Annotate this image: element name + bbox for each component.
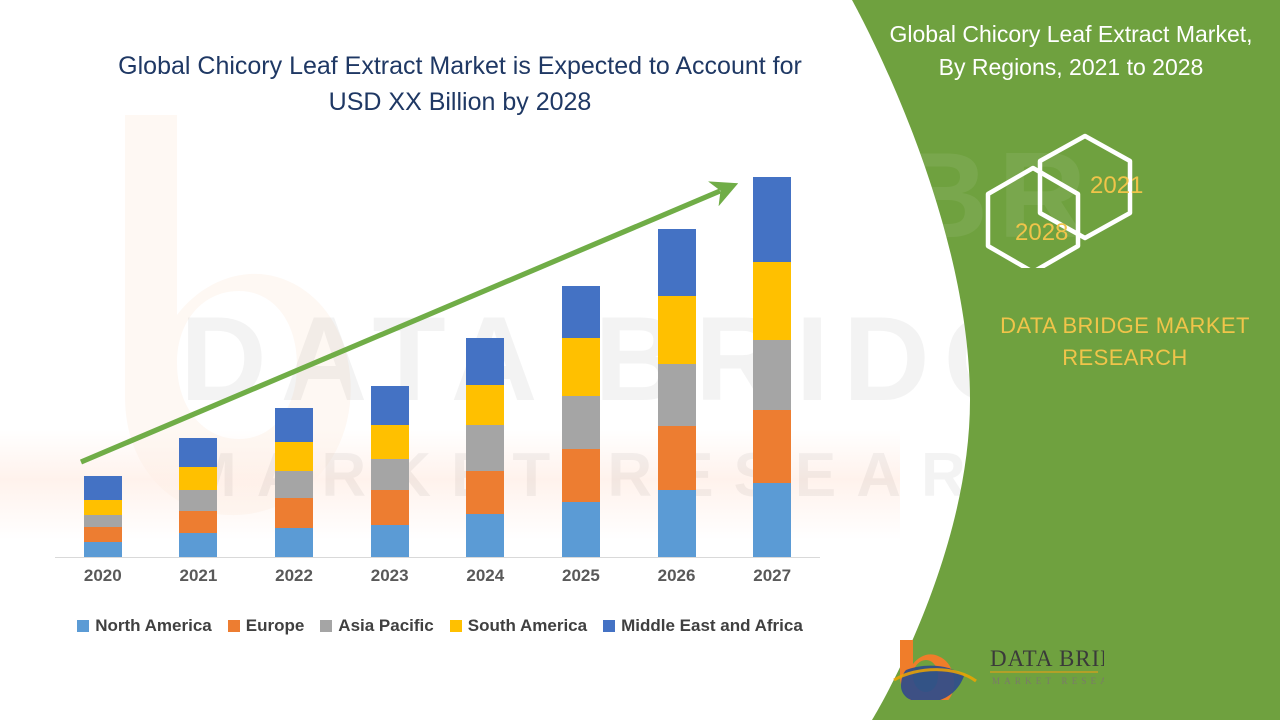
x-axis-line — [55, 557, 820, 558]
side-panel-title-line2: By Regions, 2021 to 2028 — [862, 51, 1280, 84]
logo-wordmark: DATA BRIDGE — [990, 646, 1104, 671]
chart-legend: North AmericaEuropeAsia PacificSouth Ame… — [55, 616, 825, 636]
bar-segment[interactable] — [179, 533, 217, 557]
x-axis-label: 2024 — [438, 566, 534, 596]
legend-item[interactable]: Asia Pacific — [320, 616, 433, 636]
bar-segment[interactable] — [658, 490, 696, 557]
bar-segment[interactable] — [753, 262, 791, 340]
hexagon-2021-label: 2021 — [1090, 172, 1143, 200]
side-panel-brand: DATA BRIDGE MARKET RESEARCH — [960, 310, 1280, 374]
hexagon-2028-label: 2028 — [1015, 219, 1068, 247]
side-panel-brand-line2: RESEARCH — [960, 342, 1280, 374]
bar-segment[interactable] — [466, 514, 504, 557]
legend-label: South America — [468, 616, 587, 636]
side-panel-title: Global Chicory Leaf Extract Market, By R… — [862, 18, 1280, 84]
bar-segment[interactable] — [275, 442, 313, 471]
bar-column-2025 — [533, 150, 629, 557]
bar-segment[interactable] — [84, 515, 122, 527]
legend-label: Middle East and Africa — [621, 616, 803, 636]
chart-title: Global Chicory Leaf Extract Market is Ex… — [95, 48, 825, 120]
bar-segment[interactable] — [753, 340, 791, 410]
legend-item[interactable]: Middle East and Africa — [603, 616, 803, 636]
side-panel-brand-line1: DATA BRIDGE MARKET — [960, 310, 1280, 342]
stacked-bar[interactable] — [179, 438, 217, 557]
stacked-bar[interactable] — [658, 229, 696, 557]
stacked-bar[interactable] — [84, 476, 122, 557]
legend-swatch-icon — [77, 620, 89, 632]
bar-segment[interactable] — [658, 296, 696, 364]
legend-swatch-icon — [228, 620, 240, 632]
chart-title-line1: Global Chicory Leaf Extract Market is Ex… — [95, 48, 825, 84]
stacked-bar[interactable] — [562, 286, 600, 557]
bar-segment[interactable] — [275, 498, 313, 528]
bar-segment[interactable] — [466, 471, 504, 513]
bar-segment[interactable] — [179, 511, 217, 534]
bar-segment[interactable] — [179, 467, 217, 490]
bar-segment[interactable] — [84, 527, 122, 541]
legend-item[interactable]: North America — [77, 616, 212, 636]
data-bridge-logo: DATA BRIDGE MARKET RESEARCH — [884, 636, 1104, 700]
stacked-bar[interactable] — [466, 338, 504, 557]
bar-segment[interactable] — [371, 490, 409, 525]
bar-segment[interactable] — [371, 459, 409, 490]
bar-segment[interactable] — [753, 483, 791, 557]
legend-swatch-icon — [320, 620, 332, 632]
side-panel-title-line1: Global Chicory Leaf Extract Market, — [862, 18, 1280, 51]
hexagon-pair — [975, 128, 1175, 268]
bar-segment[interactable] — [753, 177, 791, 262]
bar-segment[interactable] — [562, 286, 600, 338]
bar-segment[interactable] — [275, 408, 313, 442]
stacked-bar[interactable] — [753, 177, 791, 557]
legend-item[interactable]: Europe — [228, 616, 305, 636]
bar-segment[interactable] — [84, 500, 122, 514]
x-axis-labels: 20202021202220232024202520262027 — [55, 566, 820, 596]
legend-swatch-icon — [450, 620, 462, 632]
bar-column-2026 — [629, 150, 725, 557]
chart-title-line2: USD XX Billion by 2028 — [95, 84, 825, 120]
bar-segment[interactable] — [371, 425, 409, 459]
hexagon-2028 — [988, 168, 1078, 268]
stacked-bar[interactable] — [275, 408, 313, 557]
stacked-bar[interactable] — [371, 386, 409, 557]
bar-segment[interactable] — [562, 502, 600, 557]
x-axis-label: 2022 — [246, 566, 342, 596]
bar-segment[interactable] — [466, 385, 504, 425]
bar-segment[interactable] — [84, 542, 122, 557]
x-axis-label: 2020 — [55, 566, 151, 596]
bar-segment[interactable] — [562, 396, 600, 449]
bar-segment[interactable] — [658, 229, 696, 296]
bar-segment[interactable] — [658, 364, 696, 426]
x-axis-label: 2025 — [533, 566, 629, 596]
legend-label: Europe — [246, 616, 305, 636]
x-axis-label: 2021 — [151, 566, 247, 596]
bar-column-2022 — [246, 150, 342, 557]
stacked-bar-chart — [55, 150, 820, 557]
bar-segment[interactable] — [179, 438, 217, 467]
bar-segment[interactable] — [466, 338, 504, 384]
bar-column-2021 — [151, 150, 247, 557]
bar-column-2027 — [724, 150, 820, 557]
bar-segment[interactable] — [658, 426, 696, 490]
bar-segment[interactable] — [275, 471, 313, 498]
legend-label: North America — [95, 616, 212, 636]
bar-segment[interactable] — [84, 476, 122, 500]
legend-label: Asia Pacific — [338, 616, 433, 636]
bar-segment[interactable] — [371, 525, 409, 557]
bar-column-2024 — [438, 150, 534, 557]
bar-segment[interactable] — [466, 425, 504, 471]
logo-subtitle: MARKET RESEARCH — [992, 676, 1104, 686]
bar-segment[interactable] — [179, 490, 217, 511]
bar-segment[interactable] — [562, 338, 600, 396]
x-axis-label: 2026 — [629, 566, 725, 596]
x-axis-label: 2027 — [724, 566, 820, 596]
legend-swatch-icon — [603, 620, 615, 632]
bar-column-2023 — [342, 150, 438, 557]
bar-segment[interactable] — [371, 386, 409, 425]
x-axis-label: 2023 — [342, 566, 438, 596]
legend-item[interactable]: South America — [450, 616, 587, 636]
bar-segment[interactable] — [275, 528, 313, 557]
slide-canvas: DATA BRIDGE MARKET RESEARCH Global Chico… — [0, 0, 1280, 720]
bar-segment[interactable] — [562, 449, 600, 503]
bar-segment[interactable] — [753, 410, 791, 482]
bar-column-2020 — [55, 150, 151, 557]
